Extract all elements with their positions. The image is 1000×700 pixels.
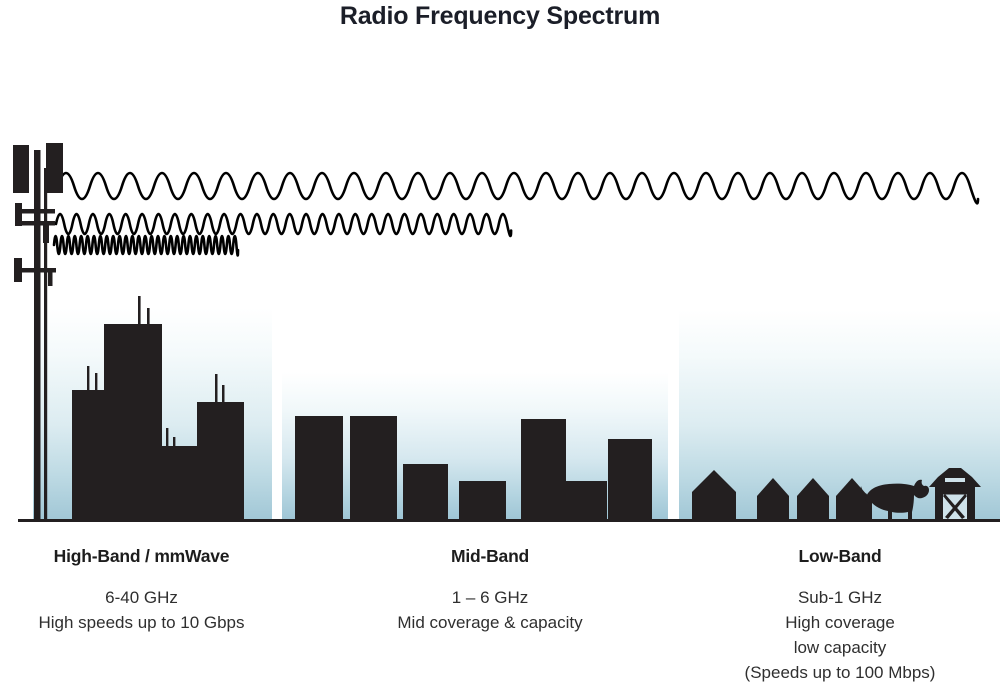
band-name-high: High-Band / mmWave xyxy=(0,546,283,567)
caption-low-band: Low-Band Sub-1 GHz High coverage low cap… xyxy=(680,546,1000,685)
caption-mid-band: Mid-Band 1 – 6 GHz Mid coverage & capaci… xyxy=(330,546,650,635)
caption-high-band: High-Band / mmWave 6-40 GHz High speeds … xyxy=(0,546,283,635)
building xyxy=(197,402,244,521)
band-frequency-high: 6-40 GHz xyxy=(0,585,283,610)
band-description-high: High speeds up to 10 Gbps xyxy=(0,610,283,635)
building xyxy=(608,439,652,521)
building xyxy=(104,324,162,521)
band-frequency-low: Sub-1 GHz xyxy=(680,585,1000,610)
band-extra-low-2: (Speeds up to 100 Mbps) xyxy=(680,660,1000,685)
wave-mid-frequency xyxy=(56,214,511,236)
infographic-root: Radio Frequency Spectrum xyxy=(0,0,1000,700)
spire xyxy=(166,428,168,448)
building xyxy=(521,419,566,521)
ground-line xyxy=(18,519,1000,522)
band-name-low: Low-Band xyxy=(680,546,1000,567)
tower-stub xyxy=(48,272,53,286)
building xyxy=(295,416,343,521)
spire xyxy=(138,296,141,326)
building xyxy=(566,481,607,521)
radio-waves xyxy=(54,173,978,255)
antenna-panel-right xyxy=(46,143,63,193)
wave-high-frequency xyxy=(54,236,238,255)
tower-mast xyxy=(34,150,41,521)
band-description-low: High coverage xyxy=(680,610,1000,635)
band-frequency-mid: 1 – 6 GHz xyxy=(330,585,650,610)
antenna-panel-left xyxy=(13,145,29,193)
band-name-mid: Mid-Band xyxy=(330,546,650,567)
building xyxy=(350,416,397,521)
band-extra-low-1: low capacity xyxy=(680,635,1000,660)
band-description-mid: Mid coverage & capacity xyxy=(330,610,650,635)
tower-crossarm-bottom xyxy=(14,268,56,273)
spire xyxy=(87,366,89,392)
wave-low-frequency xyxy=(58,173,978,203)
tower-crossarm-upper xyxy=(15,209,55,214)
tower-mast-secondary xyxy=(44,168,47,521)
antenna-panel-mid-right xyxy=(43,221,49,243)
spire xyxy=(215,374,218,404)
building xyxy=(459,481,506,521)
building xyxy=(403,464,448,521)
